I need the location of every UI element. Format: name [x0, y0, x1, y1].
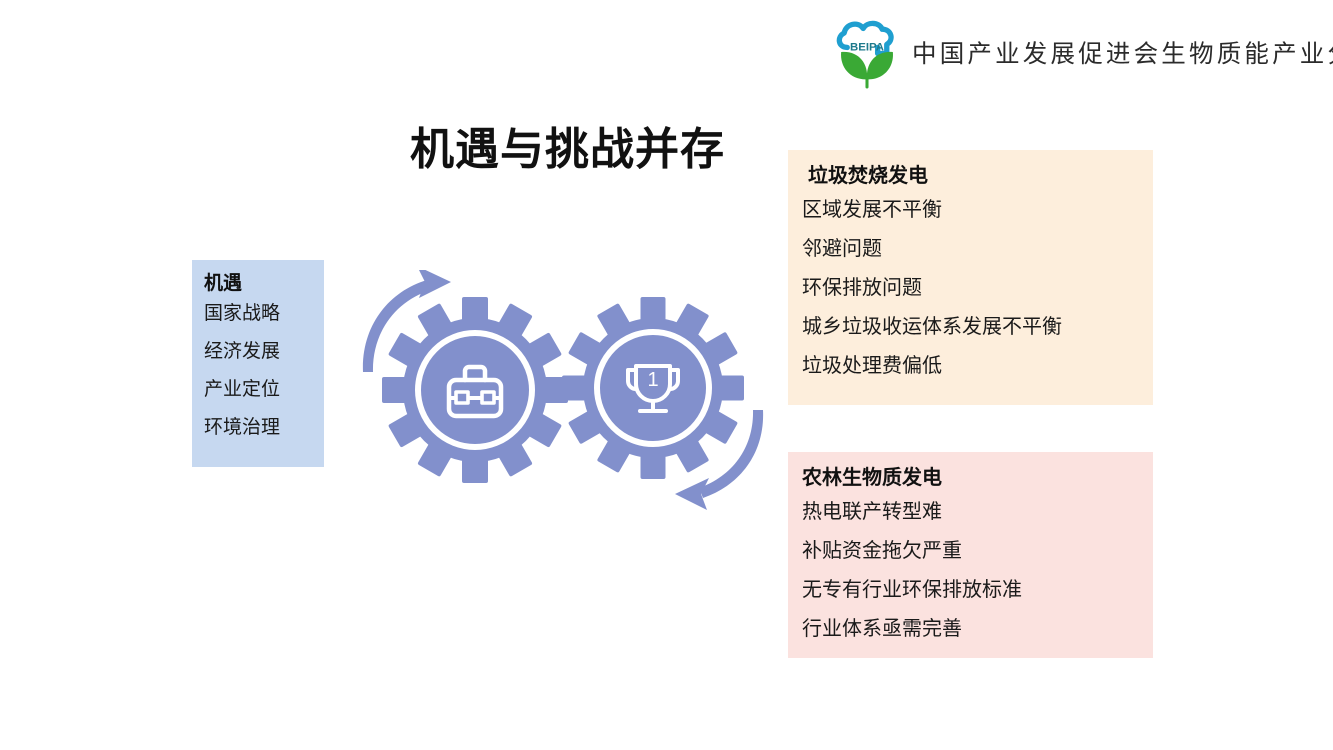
left-gear: [382, 297, 568, 483]
page-title: 机遇与挑战并存: [410, 113, 725, 177]
challenge-item: 邻避问题: [802, 239, 1153, 259]
opportunity-heading: 机遇: [204, 274, 324, 293]
brand-header: BEIPA 中国产业发展促进会生物质能产业分会: [828, 14, 1333, 90]
opportunity-item: 经济发展: [204, 342, 324, 361]
logo-mark-text: BEIPA: [850, 41, 884, 53]
opportunity-item: 国家战略: [204, 304, 324, 323]
challenge-item: 环保排放问题: [802, 278, 1153, 298]
opportunity-card: 机遇 国家战略 经济发展 产业定位 环境治理: [192, 260, 324, 467]
opportunity-item: 环境治理: [204, 418, 324, 437]
challenge-card-heading: 农林生物质发电: [802, 468, 1153, 488]
challenge-item: 无专有行业环保排放标准: [802, 580, 1153, 600]
trophy-rank-label: 1: [647, 369, 658, 391]
cloud-leaves-logo-icon: BEIPA: [828, 14, 906, 90]
challenge-item: 城乡垃圾收运体系发展不平衡: [802, 317, 1153, 337]
organization-name: 中国产业发展促进会生物质能产业分会: [912, 35, 1333, 70]
challenge-item: 热电联产转型难: [802, 502, 1153, 522]
challenge-card-waste-incineration: 垃圾焚烧发电 区域发展不平衡 邻避问题 环保排放问题 城乡垃圾收运体系发展不平衡…: [788, 150, 1153, 405]
challenge-item: 补贴资金拖欠严重: [802, 541, 1153, 561]
challenge-item: 行业体系亟需完善: [802, 619, 1153, 639]
challenge-item: 区域发展不平衡: [802, 200, 1153, 220]
right-gear: 1: [562, 297, 744, 479]
challenge-card-biomass-power: 农林生物质发电 热电联产转型难 补贴资金拖欠严重 无专有行业环保排放标准 行业体…: [788, 452, 1153, 658]
slide-canvas: BEIPA 中国产业发展促进会生物质能产业分会 机遇与挑战并存 机遇 国家战略 …: [0, 0, 1333, 750]
challenge-item: 垃圾处理费偏低: [802, 356, 1153, 376]
gears-graphic: 1: [355, 270, 775, 510]
opportunity-item: 产业定位: [204, 380, 324, 399]
challenge-card-heading: 垃圾焚烧发电: [802, 166, 1153, 186]
